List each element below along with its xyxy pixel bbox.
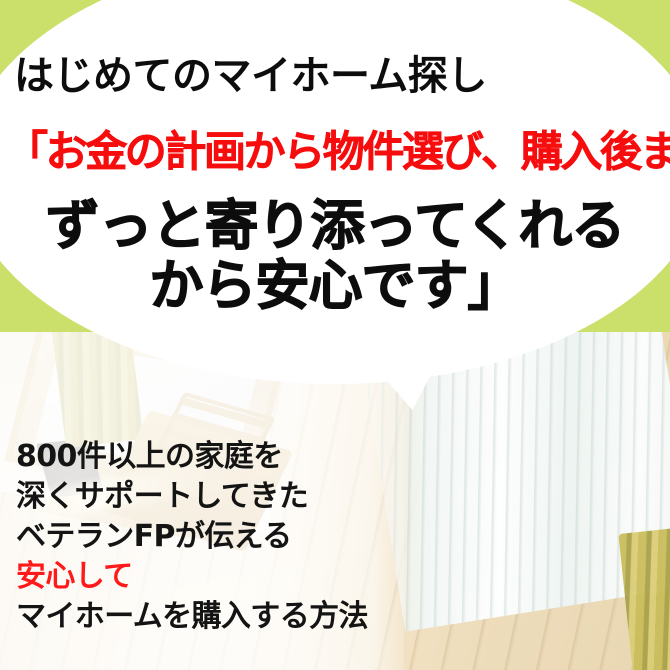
kicker-headline: はじめてのマイホーム探し: [14, 56, 487, 96]
lower-copy-highlight: 安心して: [16, 557, 436, 597]
lower-copy-line-5: マイホームを購入する方法: [16, 597, 436, 637]
lower-copy-line-1: 800件以上の家庭を: [16, 437, 436, 477]
promo-banner: はじめてのマイホーム探し 「お金の計画から物件選び、購入後まで ずっと寄り添って…: [0, 0, 670, 670]
quote-line-2: ずっと寄り添ってくれる: [0, 196, 670, 256]
lower-copy-line-3: ベテランFPが伝える: [16, 517, 436, 557]
lower-copy-line-2: 深くサポートしてきた: [16, 477, 436, 517]
quote-line-1: 「お金の計画から物件選び、購入後まで: [6, 131, 668, 173]
quote-lines-2-3: ずっと寄り添ってくれる から安心です」: [0, 196, 670, 317]
quote-line-3: から安心です」: [0, 256, 670, 316]
lower-copy: 800件以上の家庭を 深くサポートしてきた ベテランFPが伝える 安心して マイ…: [16, 437, 436, 636]
